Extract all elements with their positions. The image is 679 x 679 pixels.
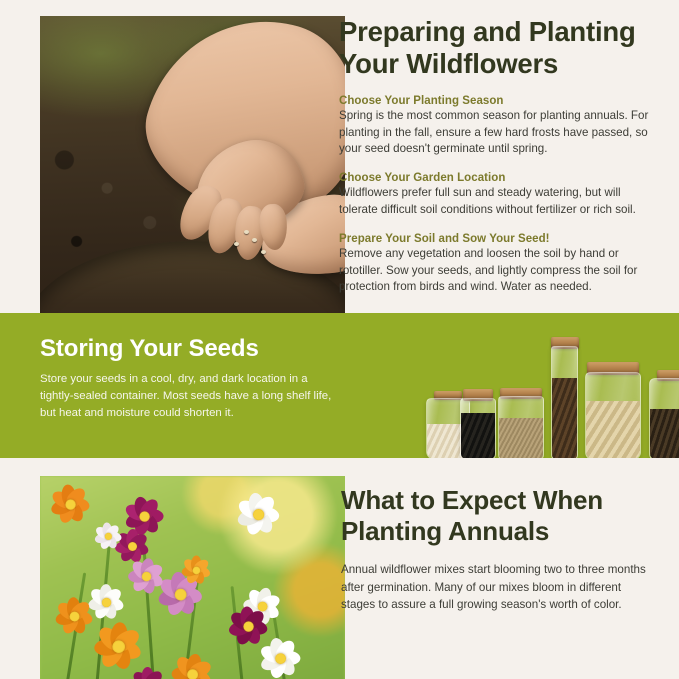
jar-glass: [460, 398, 496, 460]
what-to-expect-body: Annual wildflower mixes start blooming t…: [341, 561, 649, 613]
top-text-column: Preparing and Planting Your Wildflowers …: [305, 0, 679, 313]
subheading-garden-location: Choose Your Garden Location: [339, 172, 657, 184]
jar-contents: [650, 409, 679, 459]
subheading-planting-season: Choose Your Planting Season: [339, 95, 657, 107]
seed-jars-photo: [422, 333, 679, 474]
seed-speck: [244, 230, 249, 234]
blossom-orange-small: [177, 551, 214, 588]
green-text-column: Storing Your Seeds Store your seeds in a…: [40, 335, 340, 422]
jar-dark-sunflower-seeds: [649, 378, 679, 460]
seed-speck: [252, 238, 257, 242]
jar-large-pumpkin-seeds: [585, 372, 641, 460]
body-planting-season: Spring is the most common season for pla…: [339, 108, 657, 158]
jar-contents: [461, 413, 495, 459]
blossom-orange: [50, 592, 98, 640]
storing-seeds-body: Store your seeds in a cool, dry, and dar…: [40, 371, 340, 422]
blossom-white-small: [90, 518, 125, 553]
jar-tall-brown-seeds: [551, 346, 578, 460]
jar-glass: [649, 378, 679, 460]
subheading-prepare-soil: Prepare Your Soil and Sow Your Seed!: [339, 233, 657, 245]
blossom-deep-magenta: [223, 601, 274, 652]
blossom-magenta: [126, 662, 170, 679]
section-what-to-expect: What to Expect When Planting Annuals Ann…: [0, 458, 679, 679]
body-garden-location: Wildflowers prefer full sun and steady w…: [339, 185, 657, 219]
section-storing-seeds: Storing Your Seeds Store your seeds in a…: [0, 313, 679, 458]
jar-contents: [499, 418, 543, 459]
hands-sowing-seeds-photo: [40, 16, 345, 329]
jar-glass: [585, 372, 641, 460]
cosmos-wildflowers-photo: [40, 476, 345, 679]
jar-contents: [586, 401, 640, 459]
jar-glass: [498, 396, 544, 460]
bottom-text-column: What to Expect When Planting Annuals Ann…: [305, 463, 679, 614]
blossom-orange: [45, 479, 96, 530]
jar-glass: [551, 346, 578, 460]
storing-seeds-heading: Storing Your Seeds: [40, 335, 340, 363]
blossom-pink: [123, 553, 169, 599]
section-preparing-planting: Preparing and Planting Your Wildflowers …: [0, 0, 679, 313]
seed-speck: [234, 242, 239, 246]
jar-contents: [552, 378, 577, 459]
jar-tan-seeds: [498, 396, 544, 460]
page-title: Preparing and Planting Your Wildflowers: [339, 16, 657, 81]
body-prepare-soil: Remove any vegetation and loosen the soi…: [339, 246, 657, 296]
jar-black-seeds: [460, 398, 496, 460]
what-to-expect-heading: What to Expect When Planting Annuals: [341, 485, 649, 547]
blossom-white: [231, 487, 286, 542]
seed-speck: [261, 250, 266, 254]
infographic-page: Preparing and Planting Your Wildflowers …: [0, 0, 679, 679]
blossom-orange: [166, 648, 219, 679]
